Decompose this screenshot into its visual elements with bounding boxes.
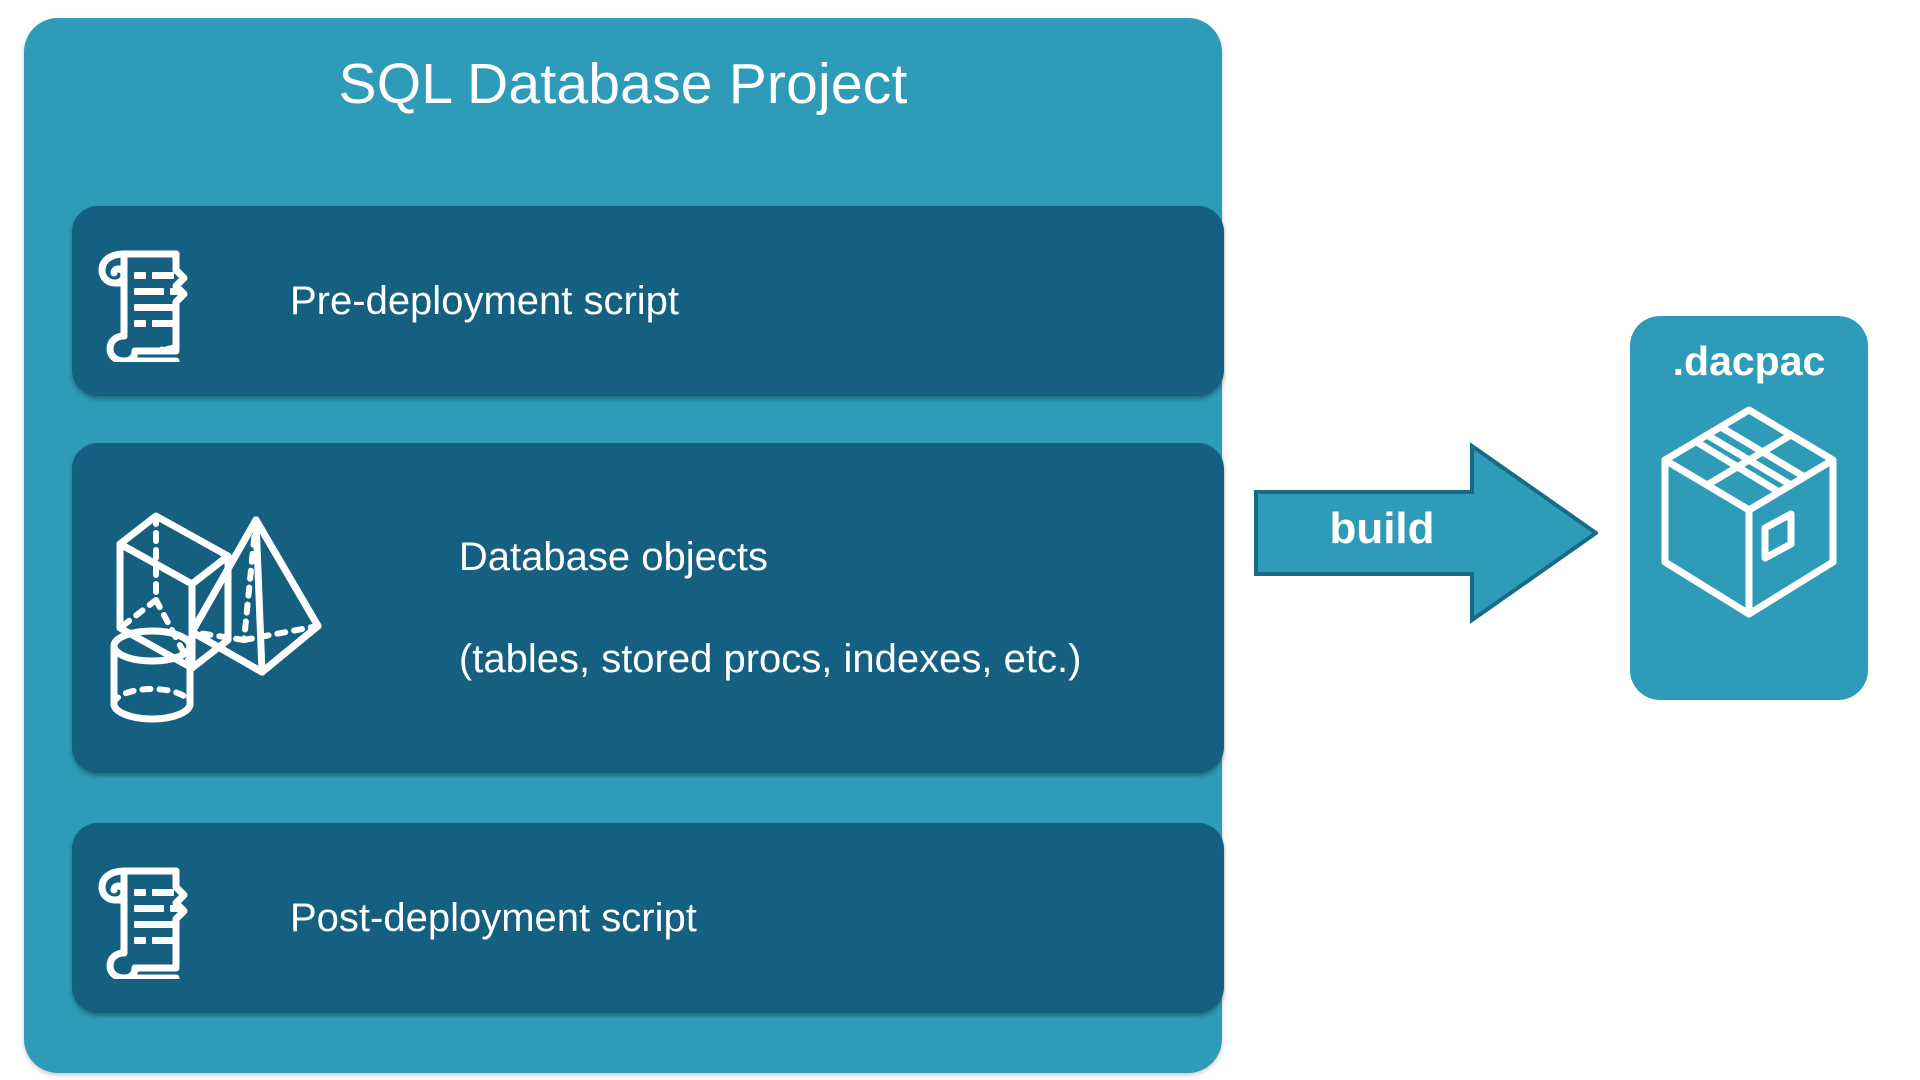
card-label-database-objects: Database objects (tables, stored procs, … — [370, 481, 1081, 736]
card-pre-deployment-script[interactable]: Pre-deployment script — [72, 206, 1224, 396]
3d-shapes-icon — [86, 492, 324, 724]
package-box-icon — [1659, 404, 1839, 627]
card-label-database-objects-line1: Database objects — [459, 535, 768, 579]
card-label-post-deployment: Post-deployment script — [290, 893, 697, 944]
card-label-database-objects-line2: (tables, stored procs, indexes, etc.) — [459, 637, 1082, 681]
build-arrow: build — [1254, 440, 1598, 626]
dacpac-title: .dacpac — [1630, 336, 1868, 386]
scroll-icon — [90, 857, 198, 979]
project-panel-title: SQL Database Project — [24, 52, 1222, 116]
diagram-canvas: SQL Database Project — [0, 0, 1920, 1080]
card-database-objects[interactable]: Database objects (tables, stored procs, … — [72, 443, 1224, 773]
sql-database-project-panel: SQL Database Project — [24, 18, 1222, 1073]
build-arrow-shape — [1256, 446, 1596, 620]
dacpac-output-panel: .dacpac — [1630, 316, 1868, 700]
card-post-deployment-script[interactable]: Post-deployment script — [72, 823, 1224, 1013]
scroll-icon — [90, 240, 198, 362]
card-label-pre-deployment: Pre-deployment script — [290, 276, 679, 327]
